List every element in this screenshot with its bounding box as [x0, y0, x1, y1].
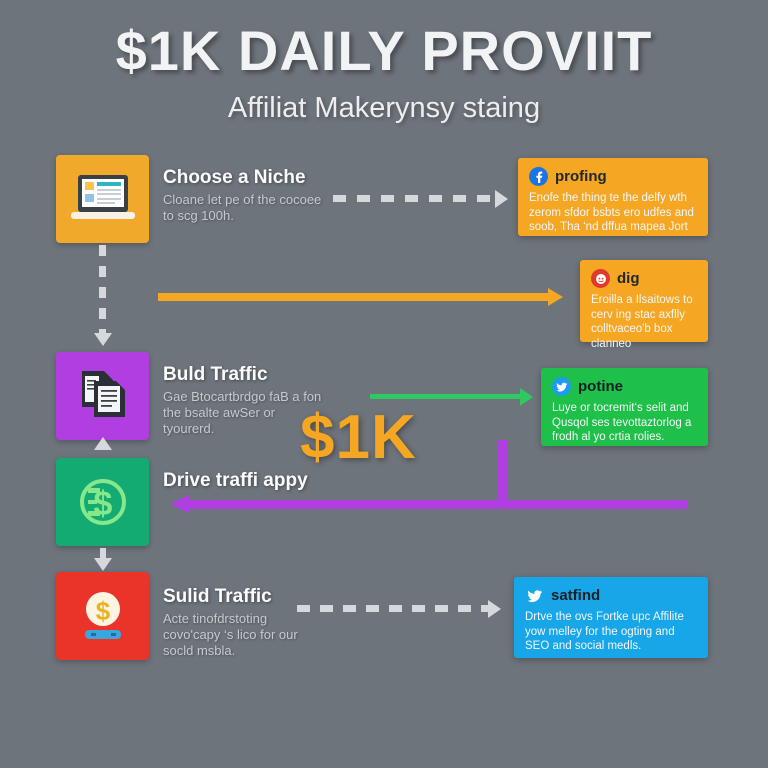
info-card-2[interactable]: dig Eroilla a Ilsaitows to cerv ing stac… — [580, 260, 708, 342]
step-body-1: Cloane let pe of the cocoee to scg 100h. — [163, 192, 323, 224]
dashed-arrow-step3-to-step4 — [94, 548, 112, 572]
dollar-coin-card-icon: $ — [56, 572, 149, 660]
twitter-icon — [552, 377, 571, 396]
card-header: satfind — [525, 586, 697, 605]
purple-arrow-from-card3-left — [168, 440, 688, 512]
card-body: Eroilla a Ilsaitows to cerv ing stac axf… — [591, 293, 697, 351]
card-title: dig — [617, 270, 640, 287]
infographic-canvas: $1K DAILY PROVIIT Affiliat Makerynsy sta… — [0, 0, 768, 768]
svg-text:$: $ — [95, 596, 110, 626]
card-header: profing — [529, 167, 697, 186]
card-title: profing — [555, 168, 607, 185]
info-card-4[interactable]: satfind Drtve the ovs Fortke upc Affilit… — [514, 577, 708, 658]
dashed-arrow-step4-to-card4 — [297, 600, 513, 618]
orange-arrow-to-card2 — [158, 288, 570, 306]
facebook-icon — [529, 167, 548, 186]
card-header: potine — [552, 377, 697, 396]
step-tile-3: $ — [56, 458, 149, 546]
step-body-2: Gae Btocart­brdgo faB a fon the bsalte a… — [163, 389, 323, 437]
dashed-arrow-step1-to-step2 — [94, 245, 112, 353]
page-subtitle: Affiliat Makerynsy staing — [0, 92, 768, 125]
dashed-arrow-step2-up — [94, 437, 112, 459]
info-card-3[interactable]: potine Luye or tocremit‘s selit and Qusq… — [541, 368, 708, 446]
dashed-arrow-step1-to-card1 — [333, 190, 515, 208]
page-title: $1K DAILY PROVIIT — [0, 18, 768, 83]
laptop-website-icon — [56, 155, 149, 243]
step-heading-1: Choose a Niche — [163, 167, 306, 189]
dollar-circle-icon: $ — [56, 458, 149, 546]
documents-icon — [56, 352, 149, 440]
twitter-icon — [525, 586, 544, 605]
info-card-1[interactable]: profing Enofe the thing te the delfy wth… — [518, 158, 708, 236]
card-body: Drtve the ovs Fortke upc Affilite yow me… — [525, 610, 697, 654]
card-title: satfind — [551, 587, 600, 604]
step-heading-2: Buld Traffic — [163, 364, 268, 386]
step-heading-4: Sulid Traffic — [163, 586, 272, 608]
step-tile-2 — [56, 352, 149, 440]
step-body-4: Acte tinofdrstoting covo'capy ‘s lico fo… — [163, 611, 323, 659]
step-tile-4: $ — [56, 572, 149, 660]
card-header: dig — [591, 269, 697, 288]
card-body: Luye or tocremit‘s selit and Qusqol ses … — [552, 401, 697, 445]
card-title: potine — [578, 378, 623, 395]
svg-text:$: $ — [93, 485, 112, 523]
card-body: Enofe the thing te the delfy wth zerom s… — [529, 191, 697, 235]
step-tile-1 — [56, 155, 149, 243]
reddit-icon — [591, 269, 610, 288]
